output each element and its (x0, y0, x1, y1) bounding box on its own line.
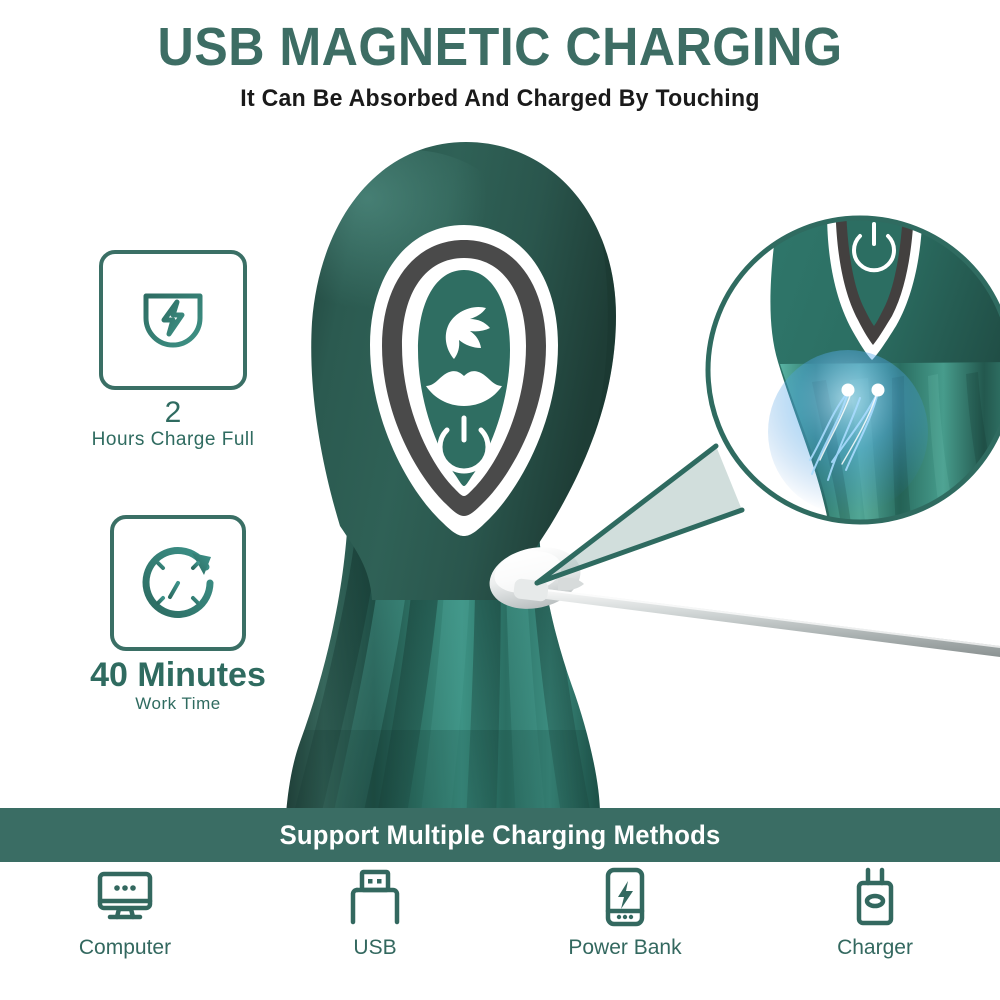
method-usb: USB (260, 866, 490, 960)
charging-contact-dot (842, 384, 855, 397)
infographic-page: USB MAGNETIC CHARGING It Can Be Absorbed… (0, 0, 1000, 1000)
method-power-bank: Power Bank (510, 866, 740, 960)
method-label: USB (260, 936, 490, 960)
charging-methods-row: Computer USB (0, 866, 1000, 976)
zoom-detail-circle (700, 212, 1000, 532)
page-subtitle: It Can Be Absorbed And Charged By Touchi… (20, 85, 980, 113)
wall-charger-icon (760, 866, 990, 928)
method-computer: Computer (10, 866, 240, 960)
power-bank-icon (510, 866, 740, 928)
usb-plug-icon (260, 866, 490, 928)
method-charger: Charger (760, 866, 990, 960)
support-banner-text: Support Multiple Charging Methods (280, 820, 721, 851)
method-label: Computer (10, 936, 240, 960)
usb-charging-cable (480, 540, 1000, 670)
monitor-icon (10, 866, 240, 928)
page-title: USB MAGNETIC CHARGING (35, 16, 965, 78)
method-label: Power Bank (510, 936, 740, 960)
support-banner: Support Multiple Charging Methods (0, 808, 1000, 862)
charging-spark (768, 350, 928, 514)
charging-contact-dot (872, 384, 885, 397)
method-label: Charger (760, 936, 990, 960)
